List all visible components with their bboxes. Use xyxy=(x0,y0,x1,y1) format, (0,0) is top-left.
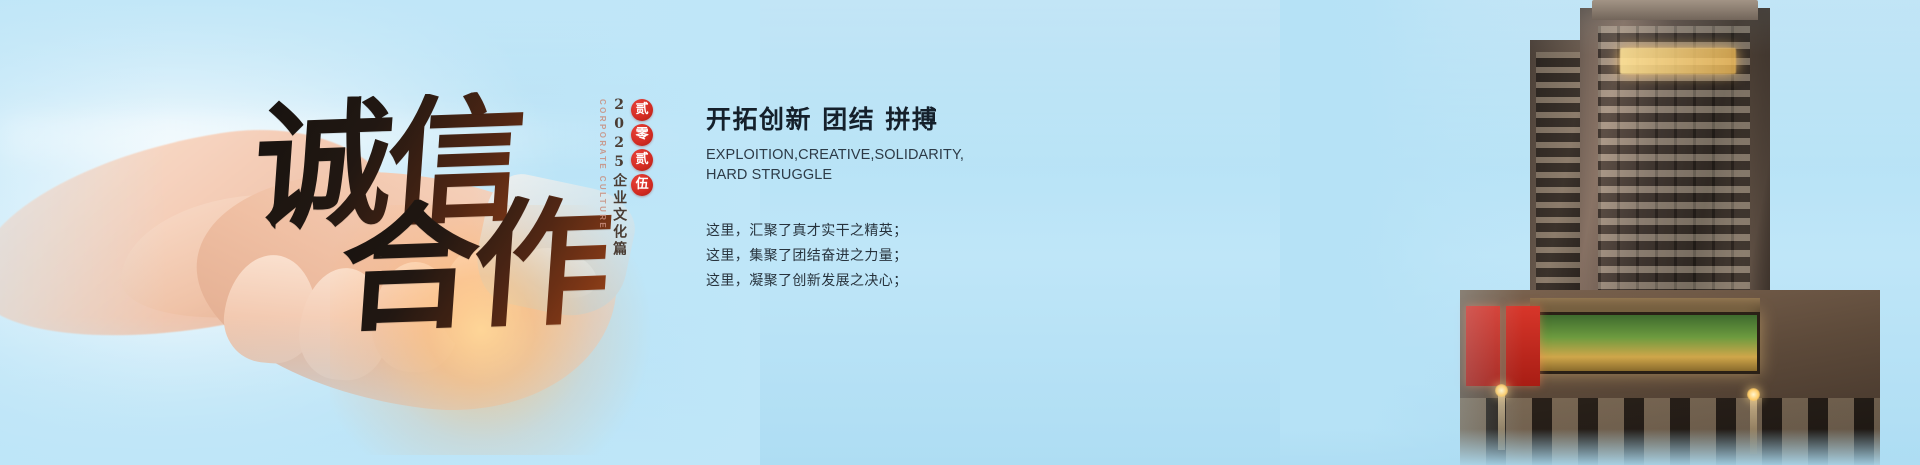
subheadline-english: EXPLOITION,CREATIVE,SOLIDARITY, HARD STR… xyxy=(706,146,921,185)
shirt-cuff-fold xyxy=(515,239,603,307)
copy-block: 开拓创新 团结 拼搏 EXPLOITION,CREATIVE,SOLIDARIT… xyxy=(706,100,1036,294)
red-vertical-banner-1 xyxy=(1466,306,1500,386)
knuckle-3 xyxy=(371,261,459,372)
podium-led-screen xyxy=(1530,312,1760,374)
tower-rooftop-sign xyxy=(1620,48,1736,74)
street-lamp-bulb-2 xyxy=(1747,388,1760,401)
ground-floor-shops xyxy=(1460,398,1880,465)
vertical-label-chinese: 2025企业文化篇 xyxy=(611,85,627,258)
left-haze xyxy=(0,0,560,465)
hand-right-shape xyxy=(183,150,628,429)
office-building-photo xyxy=(1280,0,1920,465)
building-bottom-fade xyxy=(1280,429,1920,465)
street-lamp-bulb-1 xyxy=(1495,384,1508,397)
podium-screen-header xyxy=(1530,298,1760,312)
building-photo-fade xyxy=(1280,0,1920,465)
headline: 开拓创新 团结 拼搏 xyxy=(706,100,1036,136)
body-line-1: 这里，汇聚了真才实干之精英； xyxy=(706,219,1036,244)
body-line-2: 这里，集聚了团结奋进之力量； xyxy=(706,244,1036,269)
vertical-label-english: CORPORATE CULTURE xyxy=(598,85,607,230)
seal-stack: 贰 零 贰 伍 xyxy=(631,85,653,196)
hand-left-shape xyxy=(0,108,412,363)
body-line-3: 这里，凝聚了创新发展之决心； xyxy=(706,269,1036,294)
seal-digit-1: 贰 xyxy=(631,99,653,121)
hand-left-thumb-shape xyxy=(116,187,374,324)
seal-digit-4: 伍 xyxy=(631,174,653,196)
street-light-2 xyxy=(1750,396,1757,454)
red-vertical-banner-2 xyxy=(1506,306,1540,386)
seal-digit-2: 零 xyxy=(631,124,653,146)
seal-digit-3: 贰 xyxy=(631,149,653,171)
knuckle-1 xyxy=(220,250,323,367)
podium-base xyxy=(1460,290,1880,465)
tower-left-windows xyxy=(1536,52,1580,382)
corporate-culture-banner: 诚信 合作 贰 零 贰 伍 2025企业文化篇 CORPORATE CULTUR… xyxy=(0,0,1920,465)
knuckle-4 xyxy=(437,246,522,354)
tower-main xyxy=(1580,8,1770,388)
knuckle-2 xyxy=(296,265,392,383)
vertical-seal-column: 贰 零 贰 伍 2025企业文化篇 CORPORATE CULTURE xyxy=(598,85,653,265)
street-light-1 xyxy=(1498,392,1505,450)
tower-window-grid xyxy=(1598,26,1750,376)
tower-left-wing xyxy=(1530,40,1586,388)
body-lines: 这里，汇聚了真才实干之精英； 这里，集聚了团结奋进之力量； 这里，凝聚了创新发展… xyxy=(706,219,1036,294)
tower-roof-cap xyxy=(1592,0,1758,20)
